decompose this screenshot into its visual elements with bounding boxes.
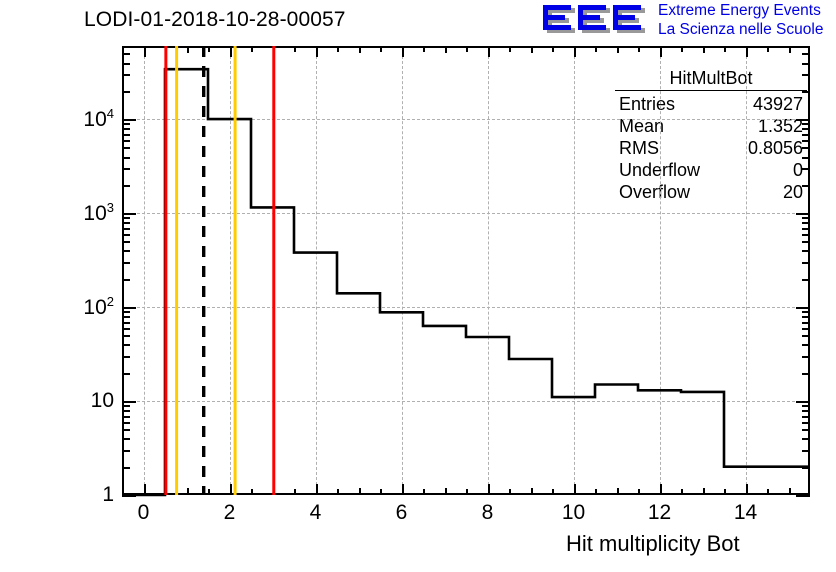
- y-axis-minor-tick: [122, 185, 130, 187]
- x-axis-minor-tick: [359, 46, 361, 52]
- x-axis-minor-tick: [789, 46, 791, 52]
- y-axis-minor-tick: [122, 250, 130, 252]
- x-axis-minor-tick: [767, 46, 769, 52]
- x-axis-minor-tick: [466, 489, 468, 495]
- x-axis-minor-tick: [509, 46, 511, 52]
- x-tick-label: 10: [562, 501, 585, 525]
- y-axis-minor-tick: [802, 217, 810, 219]
- stats-value: 43927: [753, 93, 803, 115]
- y-axis-minor-tick: [802, 356, 810, 358]
- y-axis-minor-tick: [802, 157, 810, 159]
- root-canvas: LODI-01-2018-10-28-00057 Extreme Energy …: [0, 0, 836, 572]
- x-axis-minor-tick: [402, 46, 404, 52]
- x-axis-minor-tick: [746, 489, 748, 495]
- eee-logo-line1: Extreme Energy Events: [658, 2, 823, 21]
- x-axis-minor-tick: [230, 46, 232, 52]
- y-axis-minor-tick: [122, 429, 130, 431]
- x-axis-minor-tick: [660, 46, 662, 52]
- y-axis-minor-tick: [122, 450, 130, 452]
- x-axis-minor-tick: [638, 489, 640, 495]
- x-axis-minor-tick: [746, 46, 748, 52]
- y-axis-minor-tick: [802, 185, 810, 187]
- x-axis-minor-tick: [402, 489, 404, 495]
- stats-label: Overflow: [619, 181, 690, 203]
- x-axis-minor-tick: [767, 489, 769, 495]
- y-axis-minor-tick: [802, 91, 810, 93]
- y-axis-minor-tick: [802, 422, 810, 424]
- stats-label: RMS: [619, 137, 659, 159]
- x-axis-minor-tick: [165, 46, 167, 52]
- x-tick-label: 12: [648, 501, 671, 525]
- x-axis-minor-tick: [251, 489, 253, 495]
- y-axis-minor-tick: [122, 322, 130, 324]
- x-axis-tick: [144, 484, 146, 495]
- eee-logo-line2: La Scienza nelle Scuole: [658, 21, 823, 40]
- y-axis-minor-tick: [802, 416, 810, 418]
- x-gridline: [402, 46, 403, 495]
- eee-logo-icon: [540, 4, 650, 38]
- x-axis-minor-tick: [703, 46, 705, 52]
- y-axis-tick: [796, 119, 810, 121]
- y-axis-minor-tick: [122, 438, 130, 440]
- x-axis-minor-tick: [445, 489, 447, 495]
- x-axis-minor-tick: [316, 46, 318, 52]
- y-axis-minor-tick: [122, 140, 130, 142]
- y-axis-minor-tick: [122, 373, 130, 375]
- x-axis-minor-tick: [681, 46, 683, 52]
- x-axis-minor-tick: [681, 489, 683, 495]
- x-axis-minor-tick: [552, 489, 554, 495]
- x-axis-minor-tick: [294, 46, 296, 52]
- x-axis-minor-tick: [488, 46, 490, 52]
- y-axis-minor-tick: [802, 335, 810, 337]
- x-gridline: [660, 46, 661, 495]
- y-axis-minor-tick: [802, 74, 810, 76]
- y-axis-minor-tick: [122, 128, 130, 130]
- eee-logo: Extreme Energy Events La Scienza nelle S…: [540, 2, 832, 42]
- y-axis-minor-tick: [802, 140, 810, 142]
- x-axis-minor-tick: [359, 489, 361, 495]
- y-axis-minor-tick: [802, 123, 810, 125]
- y-axis-minor-tick: [122, 157, 130, 159]
- y-gridline: [122, 119, 810, 120]
- y-axis-minor-tick: [802, 344, 810, 346]
- y-axis-minor-tick: [122, 63, 130, 65]
- y-axis-minor-tick: [802, 134, 810, 136]
- x-tick-label: 0: [138, 501, 150, 525]
- y-axis-minor-tick: [802, 234, 810, 236]
- x-axis-minor-tick: [423, 489, 425, 495]
- x-axis-minor-tick: [316, 489, 318, 495]
- x-axis-minor-tick: [595, 489, 597, 495]
- x-axis-minor-tick: [294, 489, 296, 495]
- y-axis-minor-tick: [122, 335, 130, 337]
- y-axis-minor-tick: [122, 123, 130, 125]
- y-gridline: [122, 307, 810, 308]
- y-axis-minor-tick: [122, 311, 130, 313]
- y-axis-minor-tick: [122, 416, 130, 418]
- y-axis-minor-tick: [122, 328, 130, 330]
- x-axis-minor-tick: [789, 489, 791, 495]
- y-axis-minor-tick: [122, 262, 130, 264]
- y-axis-minor-tick: [802, 311, 810, 313]
- y-axis-minor-tick: [802, 373, 810, 375]
- x-axis-minor-tick: [208, 46, 210, 52]
- y-axis-minor-tick: [122, 134, 130, 136]
- x-axis-minor-tick: [488, 489, 490, 495]
- y-axis-minor-tick: [122, 279, 130, 281]
- y-axis-minor-tick: [122, 410, 130, 412]
- x-axis-minor-tick: [337, 489, 339, 495]
- y-axis-minor-tick: [802, 128, 810, 130]
- y-axis-minor-tick: [122, 422, 130, 424]
- x-axis-minor-tick: [595, 46, 597, 52]
- x-axis-minor-tick: [273, 46, 275, 52]
- y-axis-minor-tick: [802, 241, 810, 243]
- y-axis-minor-tick: [802, 450, 810, 452]
- x-axis-minor-tick: [251, 46, 253, 52]
- y-axis-minor-tick: [802, 328, 810, 330]
- x-axis-title: Hit multiplicity Bot: [566, 531, 740, 557]
- y-axis-minor-tick: [802, 405, 810, 407]
- stats-row: RMS 0.8056: [613, 137, 809, 159]
- y-axis-minor-tick: [122, 356, 130, 358]
- x-axis-minor-tick: [574, 489, 576, 495]
- x-axis-minor-tick: [273, 489, 275, 495]
- y-axis-tick: [122, 213, 136, 215]
- y-axis-minor-tick: [802, 222, 810, 224]
- y-tick-label: 1: [60, 483, 114, 507]
- y-axis-minor-tick: [122, 405, 130, 407]
- y-axis-minor-tick: [122, 241, 130, 243]
- x-axis-minor-tick: [445, 46, 447, 52]
- x-axis-minor-tick: [617, 489, 619, 495]
- x-axis-minor-tick: [165, 489, 167, 495]
- stats-row: Underflow 0: [613, 159, 809, 181]
- x-axis-minor-tick: [552, 46, 554, 52]
- y-axis-minor-tick: [802, 63, 810, 65]
- y-axis-minor-tick: [122, 234, 130, 236]
- y-axis-minor-tick: [122, 91, 130, 93]
- x-tick-label: 6: [396, 501, 408, 525]
- y-axis-minor-tick: [122, 53, 130, 55]
- y-tick-label: 104: [60, 106, 114, 132]
- stats-title: HitMultBot: [613, 68, 809, 90]
- y-tick-label: 103: [60, 200, 114, 226]
- y-axis-minor-tick: [802, 410, 810, 412]
- y-axis-tick: [796, 401, 810, 403]
- y-axis-minor-tick: [802, 228, 810, 230]
- y-axis-minor-tick: [122, 316, 130, 318]
- x-axis-minor-tick: [187, 489, 189, 495]
- y-axis-minor-tick: [122, 228, 130, 230]
- x-axis-tick: [144, 46, 146, 57]
- eee-logo-mark: [540, 4, 650, 38]
- x-axis-minor-tick: [337, 46, 339, 52]
- x-axis-minor-tick: [531, 46, 533, 52]
- x-gridline: [488, 46, 489, 495]
- x-gridline: [316, 46, 317, 495]
- y-gridline: [122, 401, 810, 402]
- x-tick-label: 2: [224, 501, 236, 525]
- y-axis-minor-tick: [802, 46, 810, 48]
- y-axis-minor-tick: [802, 168, 810, 170]
- x-axis-minor-tick: [230, 489, 232, 495]
- y-axis-minor-tick: [122, 74, 130, 76]
- stats-row: Overflow 20: [613, 181, 809, 203]
- x-gridline: [230, 46, 231, 495]
- y-axis-tick: [796, 495, 810, 497]
- y-axis-minor-tick: [802, 322, 810, 324]
- y-axis-tick: [122, 401, 136, 403]
- y-axis-minor-tick: [802, 467, 810, 469]
- x-axis-minor-tick: [423, 46, 425, 52]
- x-axis-minor-tick: [617, 46, 619, 52]
- x-axis-minor-tick: [380, 46, 382, 52]
- y-axis-minor-tick: [802, 438, 810, 440]
- y-axis-minor-tick: [122, 168, 130, 170]
- stats-value: 20: [783, 181, 803, 203]
- y-axis-minor-tick: [802, 429, 810, 431]
- stats-row: Entries 43927: [613, 93, 809, 115]
- y-axis-tick: [796, 307, 810, 309]
- x-axis-minor-tick: [724, 489, 726, 495]
- x-axis-minor-tick: [574, 46, 576, 52]
- x-axis-minor-tick: [509, 489, 511, 495]
- x-tick-label: 8: [482, 501, 494, 525]
- x-gridline: [746, 46, 747, 495]
- y-axis-minor-tick: [122, 46, 130, 48]
- stats-value: 0.8056: [748, 137, 803, 159]
- y-axis-minor-tick: [122, 222, 130, 224]
- y-axis-tick: [122, 119, 136, 121]
- x-tick-label: 14: [734, 501, 757, 525]
- x-axis-minor-tick: [187, 46, 189, 52]
- y-axis-minor-tick: [802, 147, 810, 149]
- x-axis-minor-tick: [660, 489, 662, 495]
- y-tick-label: 102: [60, 294, 114, 320]
- y-axis-minor-tick: [802, 316, 810, 318]
- eee-logo-text: Extreme Energy Events La Scienza nelle S…: [658, 2, 823, 39]
- x-gridline: [144, 46, 145, 495]
- x-gridline: [574, 46, 575, 495]
- stats-label: Entries: [619, 93, 675, 115]
- x-axis-minor-tick: [531, 489, 533, 495]
- x-axis-minor-tick: [703, 489, 705, 495]
- x-axis-minor-tick: [208, 489, 210, 495]
- x-axis-minor-tick: [724, 46, 726, 52]
- y-axis-minor-tick: [802, 279, 810, 281]
- y-axis-minor-tick: [802, 250, 810, 252]
- page-title: LODI-01-2018-10-28-00057: [84, 8, 346, 32]
- x-axis-minor-tick: [638, 46, 640, 52]
- y-axis-tick: [796, 213, 810, 215]
- y-axis-tick: [122, 307, 136, 309]
- x-tick-label: 4: [310, 501, 322, 525]
- stats-divider: [615, 90, 807, 91]
- y-axis-minor-tick: [802, 53, 810, 55]
- y-axis-minor-tick: [122, 344, 130, 346]
- y-axis-minor-tick: [122, 467, 130, 469]
- stats-box: HitMultBot Entries 43927 Mean 1.352 RMS …: [613, 68, 809, 203]
- x-axis-minor-tick: [466, 46, 468, 52]
- y-axis-minor-tick: [122, 147, 130, 149]
- y-axis-minor-tick: [122, 217, 130, 219]
- y-axis-tick: [122, 495, 136, 497]
- x-axis-minor-tick: [380, 489, 382, 495]
- y-axis-minor-tick: [802, 262, 810, 264]
- y-gridline: [122, 213, 810, 214]
- y-tick-label: 10: [60, 389, 114, 413]
